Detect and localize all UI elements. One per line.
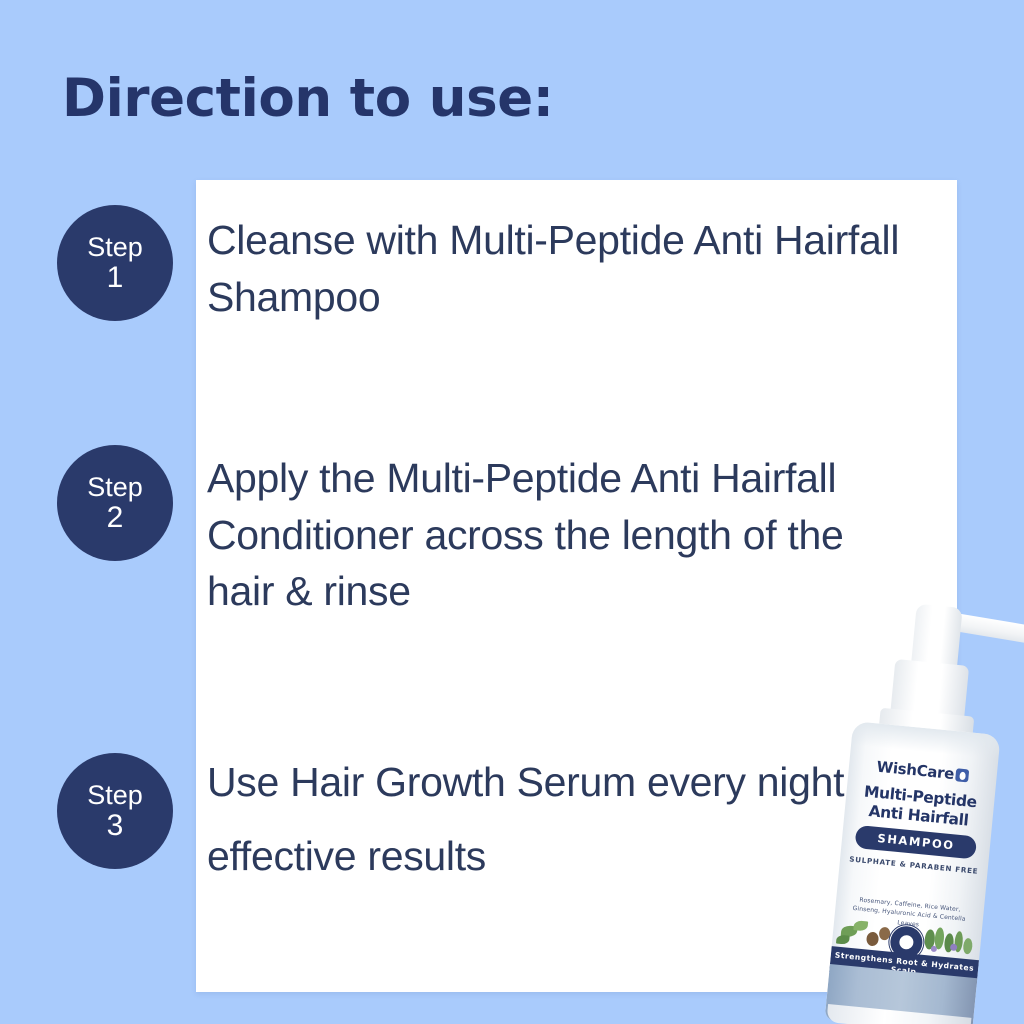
product-bottle-image: WishCare Multi-Peptide Anti Hairfall SHA… [781,590,1024,1024]
step-text-1: Cleanse with Multi-Peptide Anti Hairfall… [207,212,907,325]
step-badge-label: Step [87,234,143,261]
step-badge-label: Step [87,782,143,809]
page-title: Direction to use: [62,72,554,125]
bottle-body: WishCare Multi-Peptide Anti Hairfall SHA… [825,721,1001,1024]
step-badge-number: 3 [107,811,124,841]
wishcare-logo-icon [955,768,969,782]
step-badge-label: Step [87,474,143,501]
poster-canvas: Direction to use: Step 1 Cleanse with Mu… [0,0,1024,1024]
brand-name: WishCare [876,758,955,783]
step-badge-1[interactable]: Step 1 [57,205,173,321]
step-badge-number: 1 [107,263,124,293]
step-badge-3[interactable]: Step 3 [57,753,173,869]
step-text-2: Apply the Multi-Peptide Anti Hairfall Co… [207,450,907,620]
step-badge-2[interactable]: Step 2 [57,445,173,561]
step-badge-number: 2 [107,503,124,533]
